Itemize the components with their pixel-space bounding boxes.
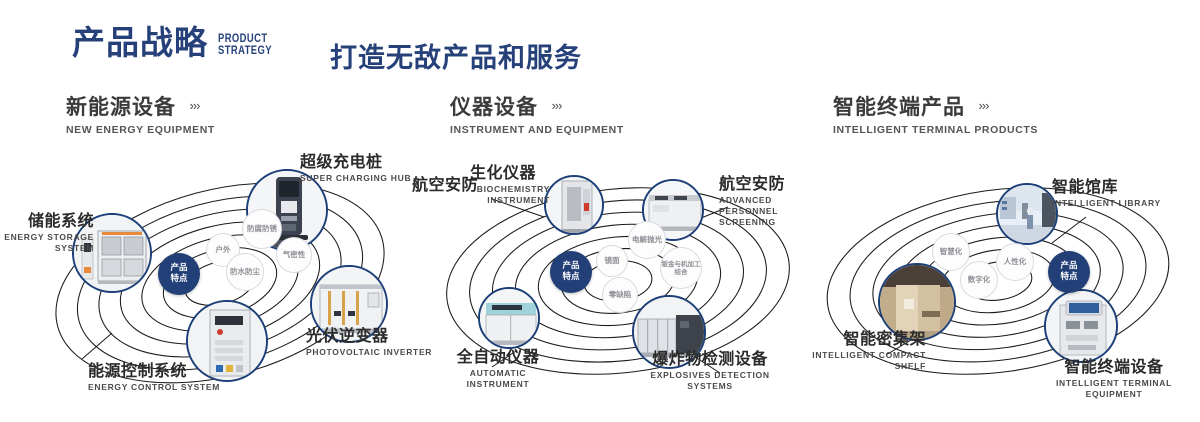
label-en: INTELLIGENT TERMINAL EQUIPMENT <box>1030 378 1198 399</box>
page-header: 产品战略 PRODUCT STRATEGY <box>72 26 284 59</box>
section-title-cn: 新能源设备 <box>66 96 176 119</box>
label-cn: 生化仪器 <box>470 164 550 182</box>
label-en: EXPLOSIVES DETECTION SYSTEMS <box>630 370 790 391</box>
label-en: ENERGY STORAGE SYSTEM <box>0 232 94 253</box>
section-title-en: INTELLIGENT TERMINAL PRODUCTS <box>833 124 1038 136</box>
core-bubble-product-features[interactable]: 产品 特点 <box>550 251 592 293</box>
label-en: SUPER CHARGING HUB <box>300 173 411 184</box>
label-energy-storage-system: 储能系统 ENERGY STORAGE SYSTEM <box>0 212 94 254</box>
label-en: INTELLIGENT LIBRARY <box>1052 198 1161 209</box>
core-line-2: 特点 <box>562 272 579 283</box>
label-cn: 能源控制系统 <box>88 362 220 380</box>
label-automatic-instrument: 全自动仪器 AUTOMATIC INSTRUMENT <box>438 348 558 390</box>
label-en: ENERGY CONTROL SYSTEM <box>88 382 220 393</box>
label-super-charging-hub: 超级充电桩 SUPER CHARGING HUB <box>300 153 411 184</box>
feature-bubble-sheetmetal-machining[interactable]: 钣金与机加工结合 <box>660 247 702 289</box>
label-explosives-detection: 爆炸物检测设备 EXPLOSIVES DETECTION SYSTEMS <box>630 350 790 392</box>
section-title-en: NEW ENERGY EQUIPMENT <box>66 124 215 136</box>
feature-bubble-digital[interactable]: 数字化 <box>960 261 998 299</box>
page-title-en: PRODUCT STRATEGY <box>218 34 284 57</box>
node-biochemistry-instrument[interactable] <box>544 175 604 235</box>
node-intelligent-terminal-equipment[interactable] <box>1044 289 1118 363</box>
label-cn: 爆炸物检测设备 <box>630 350 790 368</box>
chevron-right-icon: ››› <box>551 98 561 113</box>
label-intelligent-compact-shelf: 智能密集架 INTELLIGENT COMPACT SHELF <box>808 330 926 372</box>
label-en: BIOCHEMISTRY INSTRUMENT <box>470 184 550 205</box>
label-biochemistry-instrument: 生化仪器 BIOCHEMISTRY INSTRUMENT <box>470 164 550 206</box>
label-aviation-security-left: 航空安防 <box>412 176 478 194</box>
page-title: 产品战略 <box>72 26 208 59</box>
node-automatic-instrument[interactable] <box>478 287 540 349</box>
label-advanced-personnel-screening: 航空安防 ADVANCED PERSONNEL SCREENING <box>719 175 811 227</box>
label-cn: 航空安防 <box>719 175 811 193</box>
feature-bubble-waterproof[interactable]: 防水防尘 <box>226 253 264 291</box>
label-cn: 储能系统 <box>0 212 94 230</box>
core-line-1: 产品 <box>562 261 579 272</box>
label-en: INTELLIGENT COMPACT SHELF <box>808 350 926 371</box>
photo-terminal-equipment <box>1046 291 1116 361</box>
label-cn: 智能终端设备 <box>1030 358 1198 376</box>
label-intelligent-library: 智能馆库 INTELLIGENT LIBRARY <box>1052 178 1161 209</box>
core-line-1: 产品 <box>1060 261 1077 272</box>
photo-biochemistry <box>546 177 602 233</box>
orbit-diagram-new-energy: 产品 特点 户外 防腐防锈 防水防尘 气密性 <box>20 155 420 405</box>
core-line-2: 特点 <box>1060 272 1077 283</box>
page-subtitle: 打造无敌产品和服务 <box>330 36 582 75</box>
section-title-cn: 智能终端产品 <box>833 96 965 119</box>
section-title-en: INSTRUMENT AND EQUIPMENT <box>450 124 624 136</box>
core-bubble-product-features[interactable]: 产品 特点 <box>158 253 200 295</box>
photo-intelligent-library <box>998 185 1056 243</box>
section-title-instrument: 仪器设备 ››› INSTRUMENT AND EQUIPMENT <box>450 96 624 136</box>
label-cn: 航空安防 <box>412 176 478 194</box>
label-energy-control-system: 能源控制系统 ENERGY CONTROL SYSTEM <box>88 362 220 393</box>
section-title-cn: 仪器设备 <box>450 96 538 119</box>
label-intelligent-terminal-equipment: 智能终端设备 INTELLIGENT TERMINAL EQUIPMENT <box>1030 358 1198 400</box>
section-title-new-energy: 新能源设备 ››› NEW ENERGY EQUIPMENT <box>66 96 215 136</box>
feature-bubble-humanized[interactable]: 人性化 <box>996 243 1034 281</box>
feature-bubble-anticorrosion[interactable]: 防腐防锈 <box>242 209 282 249</box>
feature-bubble-mirror-finish[interactable]: 镜面 <box>596 245 628 277</box>
label-cn: 全自动仪器 <box>438 348 558 366</box>
page-title-en-line2: STRATEGY <box>218 46 272 58</box>
feature-bubble-intelligent[interactable]: 智慧化 <box>932 233 970 271</box>
feature-bubble-zero-defect[interactable]: 零缺陷 <box>602 277 638 313</box>
label-cn: 光伏逆变器 <box>306 327 432 345</box>
section-title-intelligent-terminal: 智能终端产品 ››› INTELLIGENT TERMINAL PRODUCTS <box>833 96 1038 136</box>
node-intelligent-library[interactable] <box>996 183 1058 245</box>
feature-bubble-electropolishing[interactable]: 电解抛光 <box>628 221 666 259</box>
photo-compact-shelf <box>880 265 954 339</box>
page-root: 产品战略 PRODUCT STRATEGY 打造无敌产品和服务 新能源设备 ››… <box>0 0 1200 422</box>
chevron-right-icon: ››› <box>189 98 199 113</box>
label-photovoltaic-inverter: 光伏逆变器 PHOTOVOLTAIC INVERTER <box>306 327 432 358</box>
chevron-right-icon: ››› <box>978 98 988 113</box>
label-cn: 超级充电桩 <box>300 153 411 171</box>
core-line-2: 特点 <box>170 274 187 285</box>
label-cn: 智能密集架 <box>808 330 926 348</box>
label-en: AUTOMATIC INSTRUMENT <box>438 368 558 389</box>
label-en: PHOTOVOLTAIC INVERTER <box>306 347 432 358</box>
core-bubble-product-features[interactable]: 产品 特点 <box>1048 251 1090 293</box>
feature-bubble-airtight[interactable]: 气密性 <box>276 237 312 273</box>
label-cn: 智能馆库 <box>1052 178 1161 196</box>
photo-automatic-instrument <box>480 289 538 347</box>
core-line-1: 产品 <box>170 263 187 274</box>
label-en: ADVANCED PERSONNEL SCREENING <box>719 195 811 227</box>
